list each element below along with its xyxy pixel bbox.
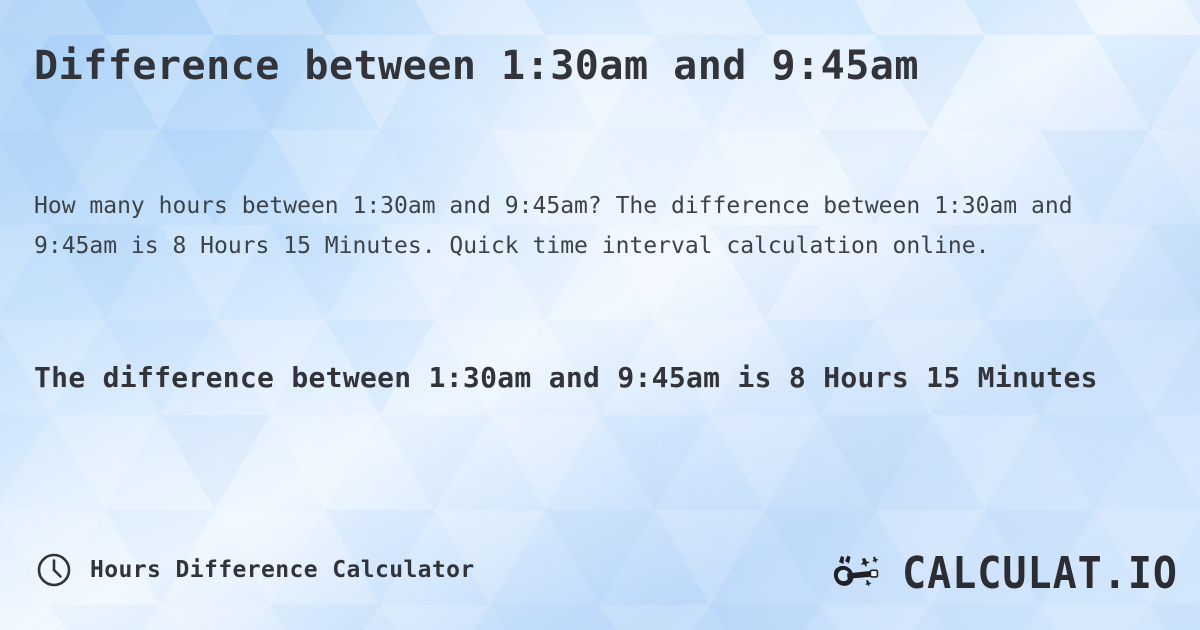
brand-logo[interactable]: CALCULAT.IO <box>832 552 1178 596</box>
card-content: Difference between 1:30am and 9:45am How… <box>0 0 1200 630</box>
social-preview-card: Difference between 1:30am and 9:45am How… <box>0 0 1200 630</box>
footer-tool: Hours Difference Calculator <box>36 552 475 588</box>
hand-holding-magic-wand-icon <box>832 552 896 596</box>
clock-icon <box>36 552 72 588</box>
footer-tool-label[interactable]: Hours Difference Calculator <box>90 557 475 583</box>
answer-heading: The difference between 1:30am and 9:45am… <box>34 355 1144 401</box>
brand-name: CALCULAT.IO <box>902 552 1178 595</box>
intro-paragraph: How many hours between 1:30am and 9:45am… <box>34 186 1164 266</box>
page-title: Difference between 1:30am and 9:45am <box>34 42 1174 90</box>
